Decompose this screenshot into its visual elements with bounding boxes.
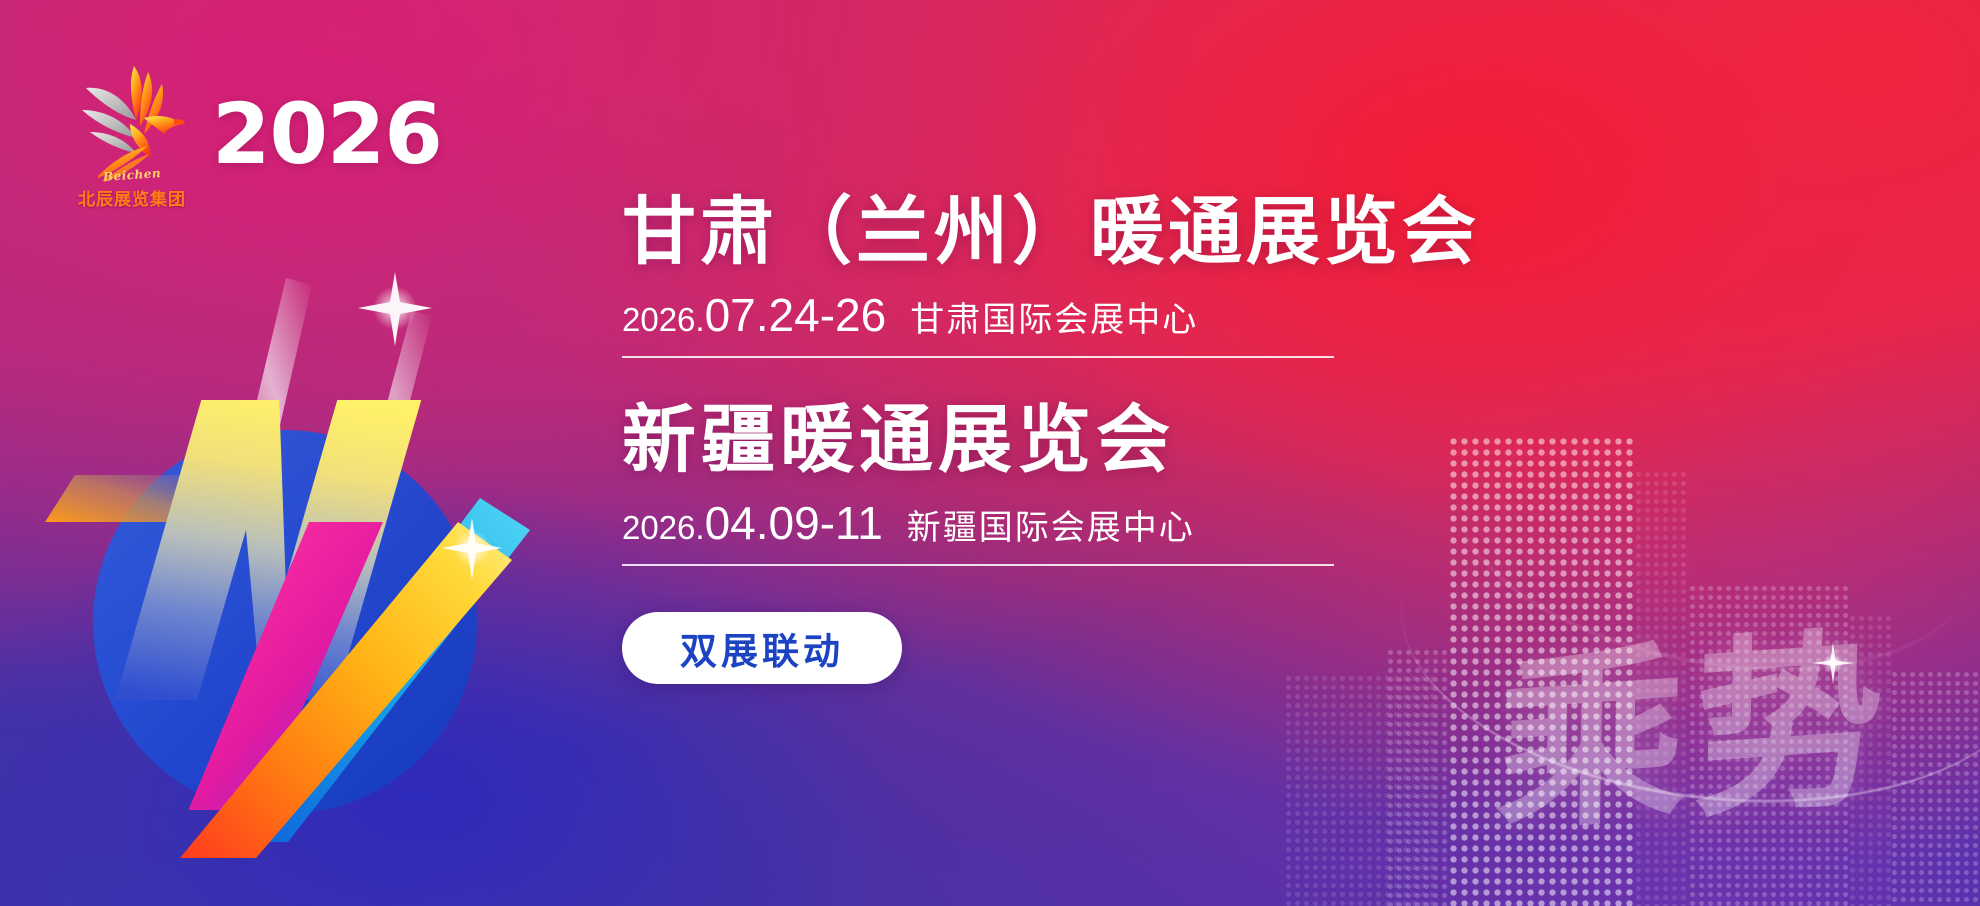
- venue-name-1: 甘肃国际会展中心: [910, 292, 1198, 341]
- exhibition-title-2: 新疆暖通展览会: [622, 400, 1622, 480]
- date-year-1: 2026.: [622, 301, 705, 339]
- exhibition-title-1: 甘肃（兰州）暖通展览会: [622, 192, 1622, 272]
- dual-exhibition-badge[interactable]: 双展联动: [622, 612, 902, 684]
- exhibition-dateline-1: 2026. 07.24-26 甘肃国际会展中心: [622, 288, 1334, 358]
- event-banner: 乘势: [0, 0, 1980, 906]
- venue-name-2: 新疆国际会展中心: [907, 500, 1195, 549]
- content-block: 甘肃（兰州）暖通展览会 2026. 07.24-26 甘肃国际会展中心 新疆暖通…: [622, 192, 1622, 684]
- phoenix-bird-icon: [78, 58, 186, 186]
- n-monogram-icon: [60, 230, 540, 850]
- brand-logo[interactable]: Beichen 北辰展览集团: [78, 58, 186, 208]
- brand-name-cn: 北辰展览集团: [78, 185, 186, 210]
- section-spacer: [622, 358, 1622, 400]
- date-main-2: 04.09-11: [705, 496, 883, 550]
- date-main-1: 07.24-26: [705, 288, 887, 342]
- date-year-2: 2026.: [622, 509, 705, 547]
- year-label: 2026: [212, 92, 442, 176]
- exhibition-dateline-2: 2026. 04.09-11 新疆国际会展中心: [622, 496, 1334, 566]
